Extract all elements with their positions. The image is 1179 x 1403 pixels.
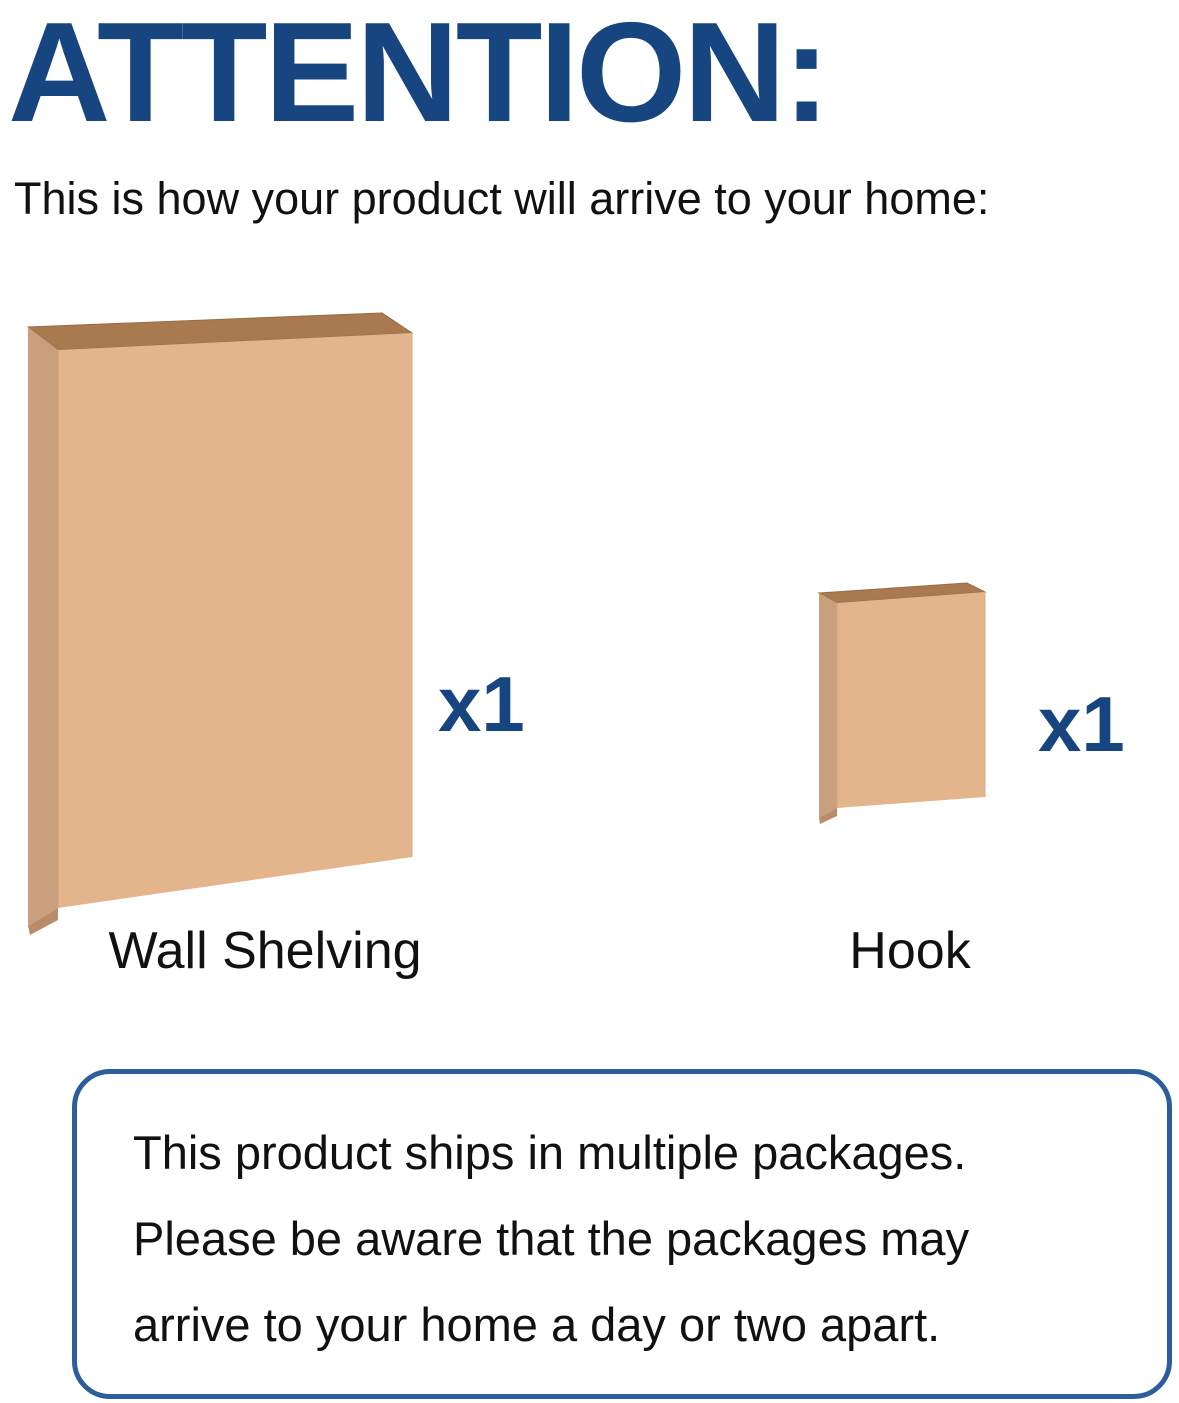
package-wall-shelving: x1 Wall Shelving [0, 280, 620, 1000]
shipping-notice-box: This product ships in multiple packages.… [72, 1069, 1172, 1399]
shipping-notice-text: This product ships in multiple packages.… [133, 1110, 1123, 1368]
package-caption-wall-shelving: Wall Shelving [55, 925, 475, 977]
package-quantity-hook: x1 [1038, 685, 1125, 763]
page-subtitle: This is how your product will arrive to … [14, 176, 989, 221]
carton-box-small-icon [700, 280, 1179, 1000]
page-title: ATTENTION: [8, 2, 827, 144]
packages-illustration: x1 Wall Shelving x1 Hook [0, 280, 1179, 1000]
notice-line-2: Please be aware that the packages may [133, 1196, 1123, 1282]
notice-line-1: This product ships in multiple packages. [133, 1110, 1123, 1196]
package-quantity-wall-shelving: x1 [438, 665, 525, 743]
package-caption-hook: Hook [770, 925, 1050, 977]
package-hook: x1 Hook [700, 280, 1179, 1000]
carton-box-large-icon [0, 280, 620, 1000]
notice-line-3: arrive to your home a day or two apart. [133, 1282, 1123, 1368]
